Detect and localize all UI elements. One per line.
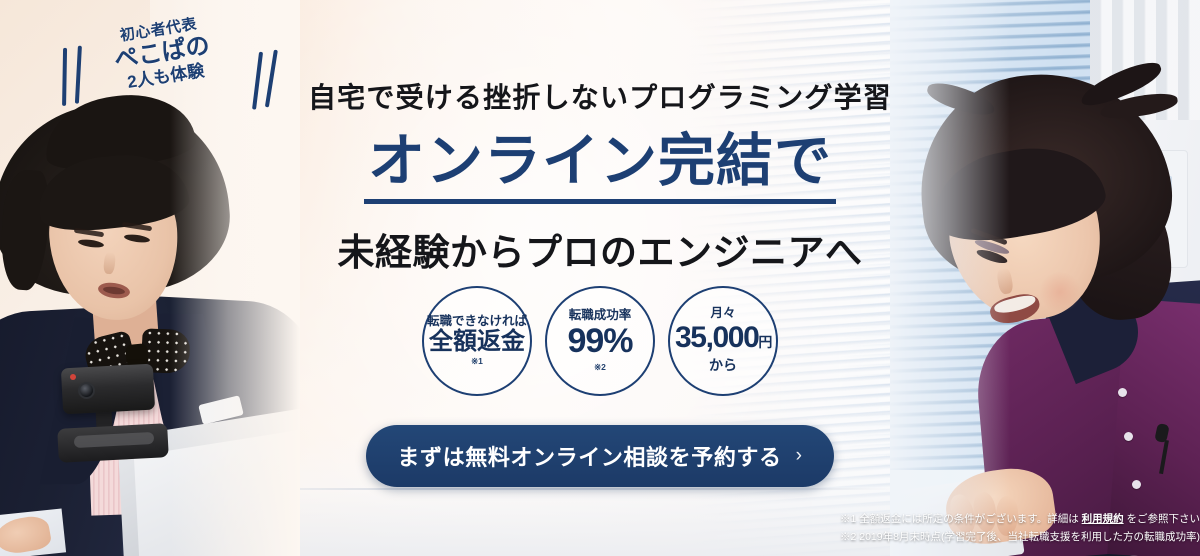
hero-copy: 自宅で受ける挫折しないプログラミング学習 オンライン完結で 未経験からプロのエン… — [0, 0, 1200, 556]
badge-refund-note: ※1 — [471, 356, 483, 367]
badge-price-top: 月々 — [710, 307, 735, 321]
badge-refund-main: 全額返金 — [429, 329, 525, 354]
hero-headline: オンライン完結で — [364, 130, 836, 204]
cta-label: まずは無料オンライン相談を予約する — [397, 440, 781, 472]
cta-wrapper: まずは無料オンライン相談を予約する › — [0, 425, 1200, 487]
hero-banner: 初心者代表 ぺこぱの 2人も体験 自宅で受ける挫折しないプログラミング学習 オン… — [0, 0, 1200, 556]
badge-rate-main: 99% — [567, 324, 632, 360]
badge-full-refund: 転職できなければ 全額返金 ※1 — [422, 286, 532, 396]
hero-headline-secondary: 未経験からプロのエンジニアへ — [0, 222, 1200, 276]
badge-rate-note: ※2 — [594, 362, 606, 373]
hero-headline-wrapper: オンライン完結で — [0, 130, 1200, 204]
hero-subheading: 自宅で受ける挫折しないプログラミング学習 — [0, 76, 1200, 116]
footnote-row-2: ※2 2019年8月末時点(学習完了後、当社転職支援を利用した方の転職成功率) — [840, 529, 1192, 546]
book-free-consultation-button[interactable]: まずは無料オンライン相談を予約する › — [366, 425, 834, 487]
footnote-1-text-a: ※1 全額返金には所定の条件がございます。詳細は — [840, 513, 1082, 525]
footnote-1-text-b: をご参照下さい — [1124, 513, 1200, 525]
benefit-badges: 転職できなければ 全額返金 ※1 転職成功率 99% ※2 月々 35,000円… — [0, 286, 1200, 396]
badge-price-main-row: 35,000円 — [675, 322, 771, 354]
badge-price-amount: 35,000 — [675, 321, 758, 354]
badge-price-currency: 円 — [758, 334, 771, 350]
badge-success-rate: 転職成功率 99% ※2 — [545, 286, 655, 396]
badge-price-bottom: から — [709, 355, 737, 375]
footnote-row-1: ※1 全額返金には所定の条件がございます。詳細は 利用規約 をご参照下さい — [840, 511, 1192, 528]
badge-monthly-price: 月々 35,000円 から — [668, 286, 778, 396]
terms-of-service-link[interactable]: 利用規約 — [1082, 513, 1124, 525]
badge-refund-top: 転職できなければ — [427, 315, 527, 329]
legal-footnotes: ※1 全額返金には所定の条件がございます。詳細は 利用規約 をご参照下さい ※2… — [840, 511, 1192, 546]
chevron-right-icon: › — [796, 445, 803, 467]
badge-rate-top: 転職成功率 — [569, 309, 632, 323]
